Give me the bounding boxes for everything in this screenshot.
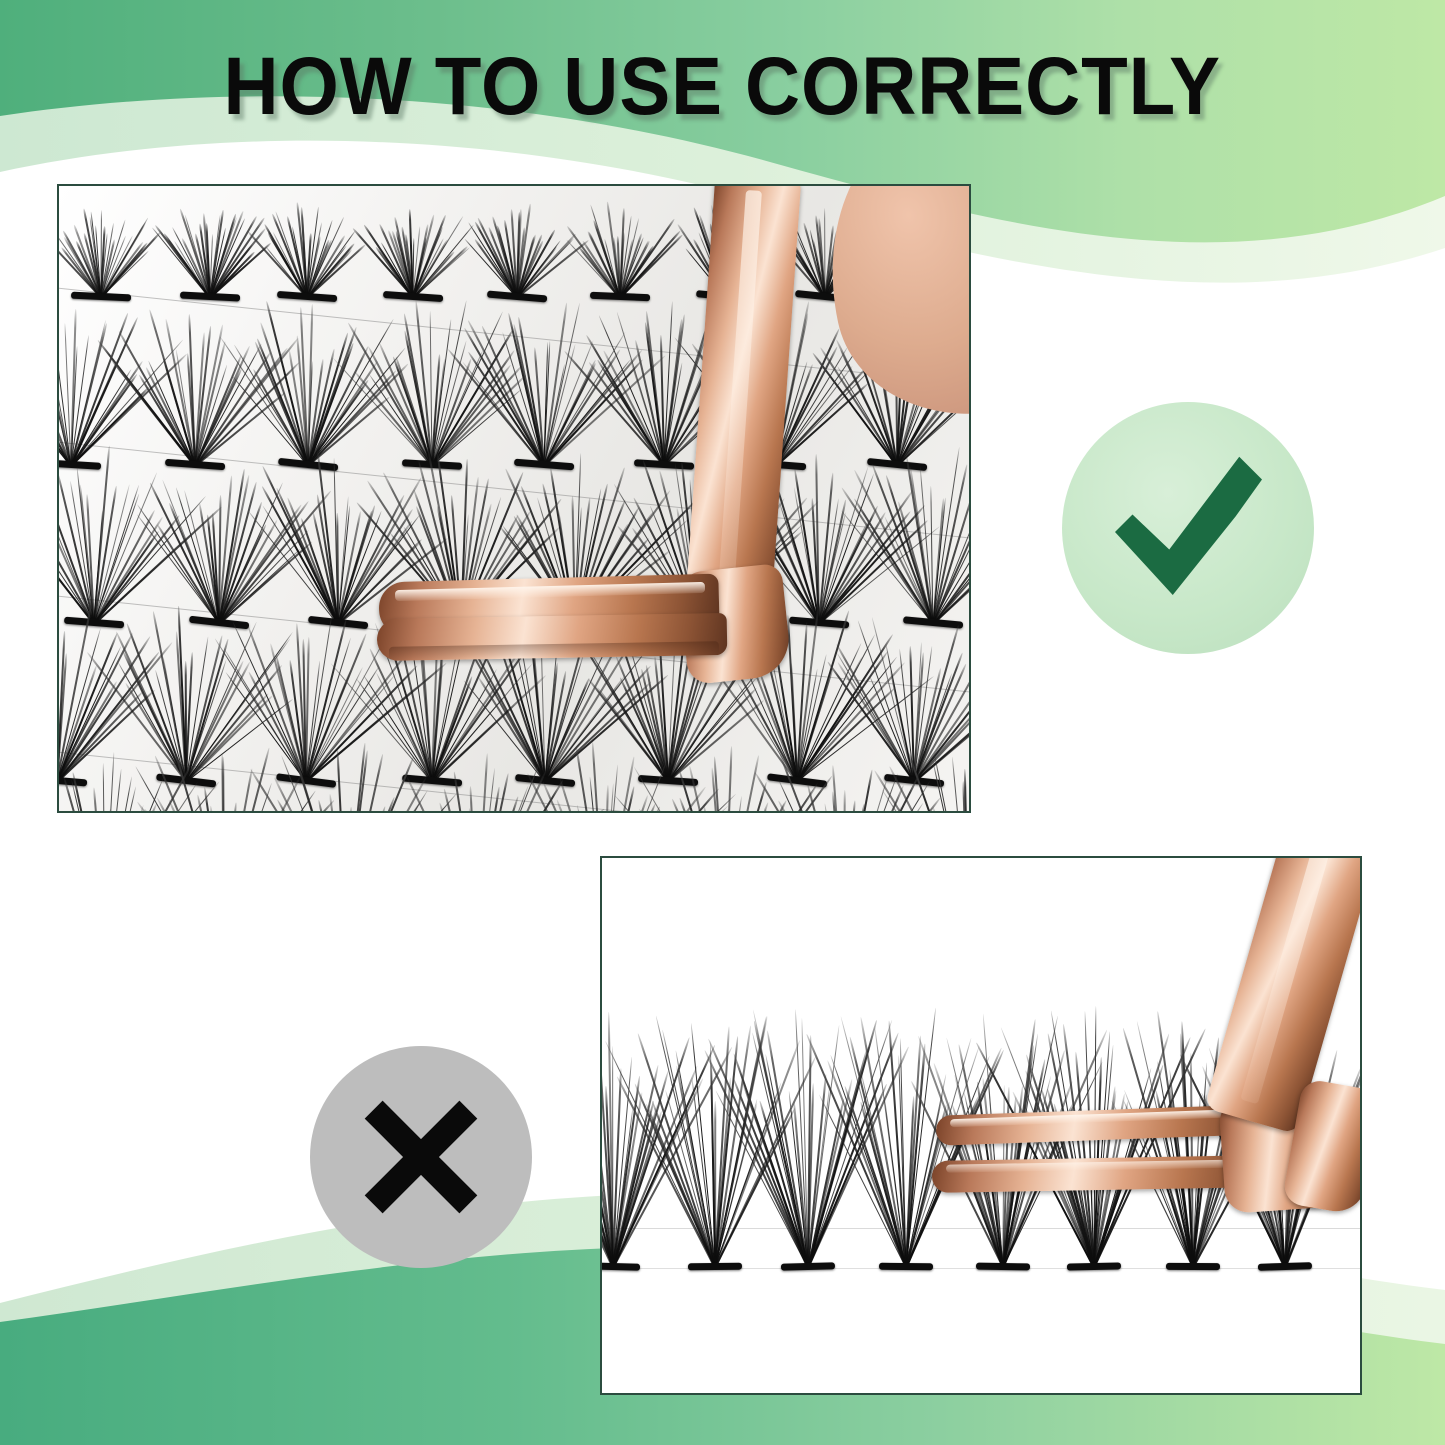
- lash-cluster: [365, 199, 468, 302]
- lash-cluster: [572, 200, 672, 300]
- incorrect-usage-photo: [600, 856, 1362, 1395]
- check-badge: [1062, 402, 1314, 654]
- lash-cluster: [162, 200, 263, 301]
- cross-badge: [310, 1046, 532, 1268]
- check-icon: [1101, 441, 1276, 616]
- correct-usage-photo: [57, 184, 971, 813]
- lash-cluster: [760, 1007, 851, 1269]
- lash-cluster: [260, 199, 363, 302]
- lash-cluster: [59, 200, 153, 300]
- lash-cluster: [864, 1008, 950, 1269]
- cross-icon: [357, 1093, 485, 1221]
- page-title: HOW TO USE CORRECTLY: [224, 46, 1221, 128]
- page-title-wrap: HOW TO USE CORRECTLY: [0, 46, 1445, 128]
- wrong-photo-inner: [602, 858, 1360, 1393]
- lash-cluster: [470, 198, 574, 302]
- correct-photo-inner: [59, 186, 969, 811]
- infographic-canvas: HOW TO USE CORRECTLY: [0, 0, 1445, 1445]
- lash-cluster: [59, 295, 129, 468]
